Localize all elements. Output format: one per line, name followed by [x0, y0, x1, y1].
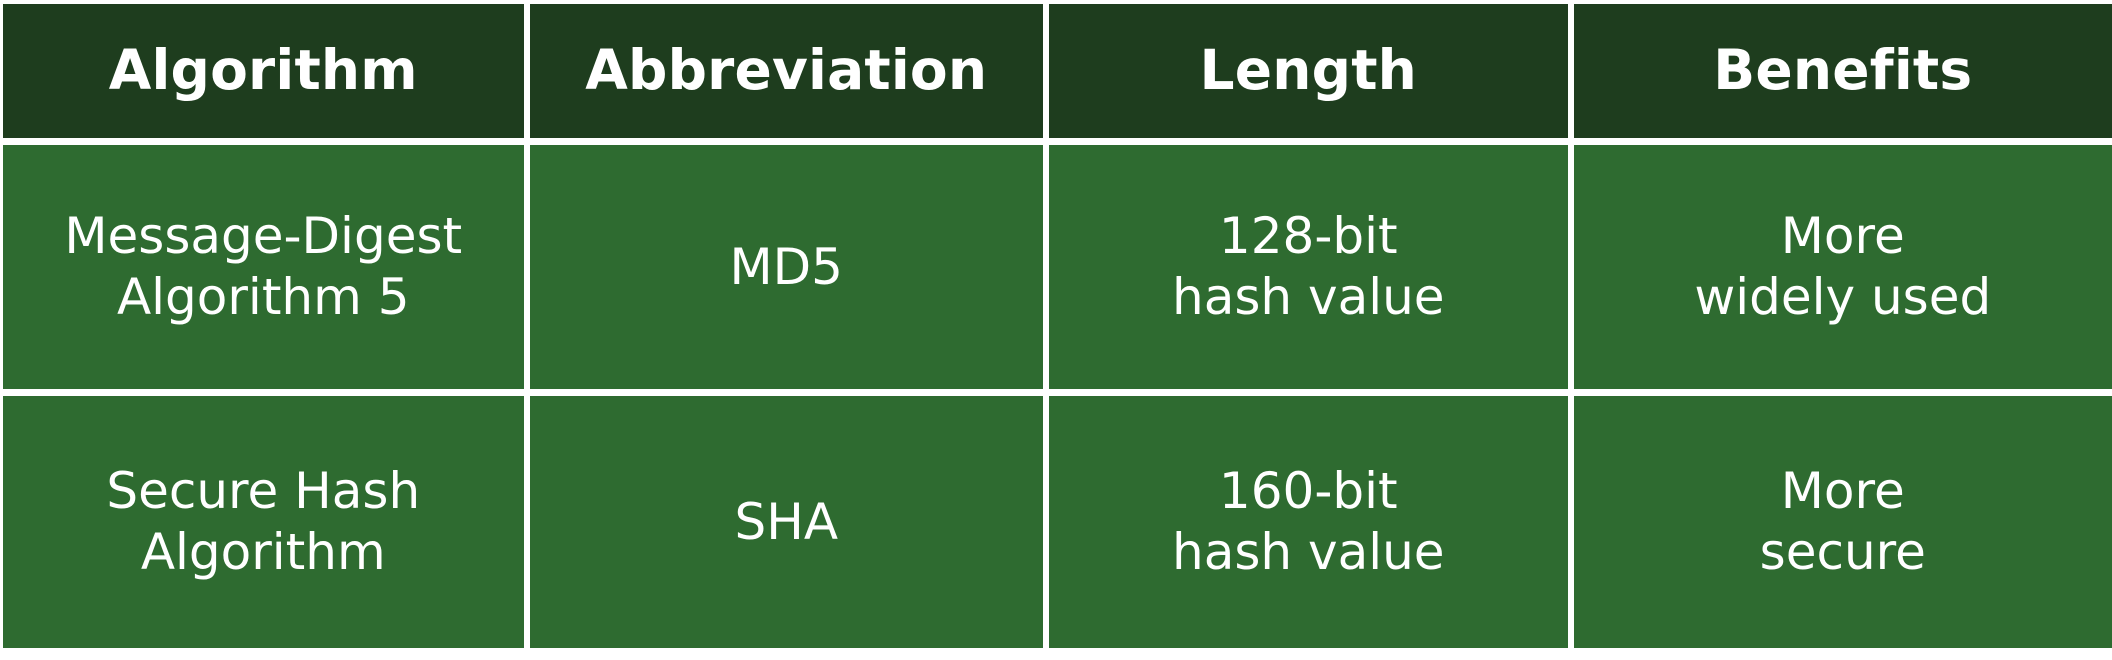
cell-abbreviation-sha-text: SHA: [722, 492, 850, 553]
cell-algorithm-sha: Secure Hash Algorithm: [3, 396, 524, 648]
cell-benefits-sha: More secure: [1574, 396, 2112, 648]
cell-abbreviation-md5: MD5: [530, 145, 1044, 389]
cell-benefits-sha-text: More secure: [1748, 461, 1938, 583]
column-header-algorithm: Algorithm: [3, 4, 524, 138]
column-header-benefits: Benefits: [1574, 4, 2112, 138]
cell-abbreviation-md5-text: MD5: [718, 237, 855, 298]
cell-length-sha-text: 160-bit hash value: [1160, 461, 1457, 583]
table-header-row: Algorithm Abbreviation Length Benefits: [0, 4, 2112, 138]
cell-length-md5-text: 128-bit hash value: [1160, 206, 1457, 328]
cell-benefits-md5: More widely used: [1574, 145, 2112, 389]
cell-algorithm-sha-text: Secure Hash Algorithm: [94, 461, 432, 583]
cell-algorithm-md5-text: Message-Digest Algorithm 5: [52, 206, 474, 328]
column-header-algorithm-label: Algorithm: [97, 42, 430, 100]
column-header-benefits-label: Benefits: [1701, 42, 1984, 100]
cell-length-md5: 128-bit hash value: [1049, 145, 1568, 389]
table-row: Message-Digest Algorithm 5 MD5 128-bit h…: [0, 145, 2112, 389]
cell-abbreviation-sha: SHA: [530, 396, 1044, 648]
hash-algorithm-comparison-table: Algorithm Abbreviation Length Benefits M…: [0, 0, 2112, 660]
column-header-abbreviation: Abbreviation: [530, 4, 1044, 138]
table-row: Secure Hash Algorithm SHA 160-bit hash v…: [0, 396, 2112, 648]
column-header-length: Length: [1049, 4, 1568, 138]
cell-benefits-md5-text: More widely used: [1682, 206, 2003, 328]
cell-algorithm-md5: Message-Digest Algorithm 5: [3, 145, 524, 389]
column-header-length-label: Length: [1188, 42, 1430, 100]
cell-length-sha: 160-bit hash value: [1049, 396, 1568, 648]
column-header-abbreviation-label: Abbreviation: [573, 42, 999, 100]
comparison-table: Algorithm Abbreviation Length Benefits M…: [0, 0, 2112, 648]
